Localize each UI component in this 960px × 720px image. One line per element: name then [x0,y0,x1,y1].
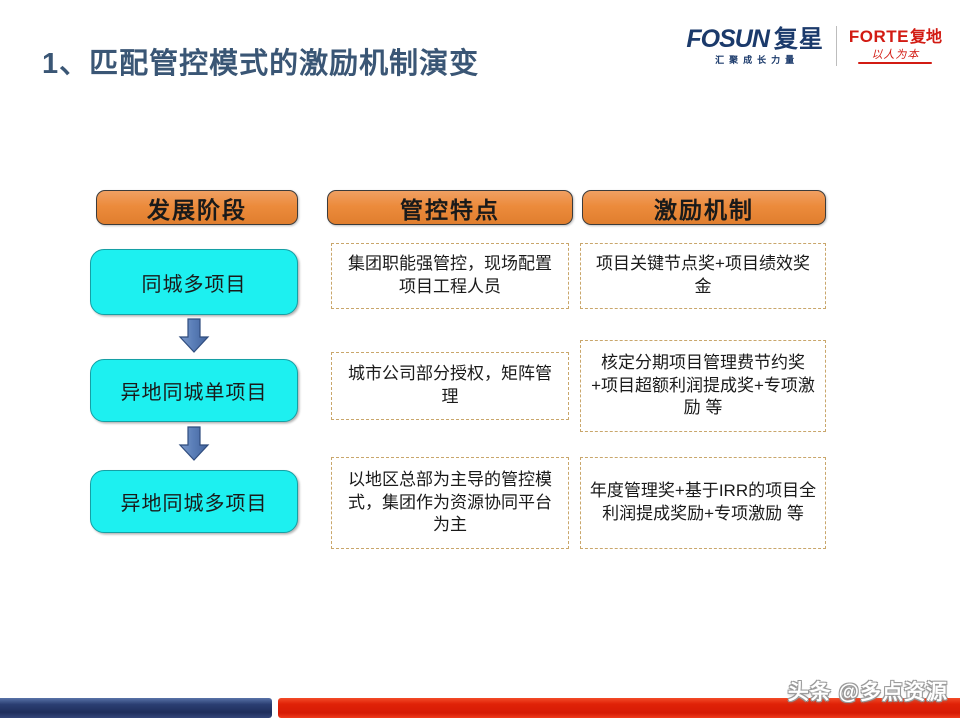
control-feature-card-2-text: 城市公司部分授权，矩阵管理 [340,363,560,409]
stage-box-3-label: 异地同城多项目 [121,487,268,516]
incentive-card-3[interactable]: 年度管理奖+基于IRR的项目全利润提成奖励+专项激励 等 [580,457,826,549]
incentive-card-1[interactable]: 项目关键节点奖+项目绩效奖金 [580,243,826,309]
process-diagram: 发展阶段 管控特点 激励机制 同城多项目 异地同城单项目 异地同城多项目 [0,0,960,720]
control-feature-card-1[interactable]: 集团职能强管控，现场配置项目工程人员 [331,243,569,309]
footer-bar-blue [0,698,272,718]
incentive-card-3-text: 年度管理奖+基于IRR的项目全利润提成奖励+专项激励 等 [589,480,817,526]
stage-box-2[interactable]: 异地同城单项目 [90,359,298,422]
down-arrow-icon [177,318,211,354]
down-arrow-icon [177,426,211,462]
column-header-incentive-label: 激励机制 [654,191,754,225]
incentive-card-2[interactable]: 核定分期项目管理费节约奖+项目超额利润提成奖+专项激励 等 [580,340,826,432]
control-feature-card-3-text: 以地区总部为主导的管控模式，集团作为资源协同平台为主 [340,469,560,537]
stage-box-1[interactable]: 同城多项目 [90,249,298,315]
column-header-stage-label: 发展阶段 [147,191,247,225]
column-header-incentive: 激励机制 [582,190,826,225]
column-header-control: 管控特点 [327,190,573,225]
column-header-control-label: 管控特点 [400,191,500,225]
stage-box-1-label: 同城多项目 [142,268,247,297]
incentive-card-2-text: 核定分期项目管理费节约奖+项目超额利润提成奖+专项激励 等 [589,352,817,420]
control-feature-card-3[interactable]: 以地区总部为主导的管控模式，集团作为资源协同平台为主 [331,457,569,549]
stage-box-3[interactable]: 异地同城多项目 [90,470,298,533]
control-feature-card-2[interactable]: 城市公司部分授权，矩阵管理 [331,352,569,420]
control-feature-card-1-text: 集团职能强管控，现场配置项目工程人员 [340,253,560,299]
stage-box-2-label: 异地同城单项目 [121,376,268,405]
incentive-card-1-text: 项目关键节点奖+项目绩效奖金 [589,253,817,299]
column-header-stage: 发展阶段 [96,190,298,225]
watermark: 头条 @多点资源 [788,676,948,706]
